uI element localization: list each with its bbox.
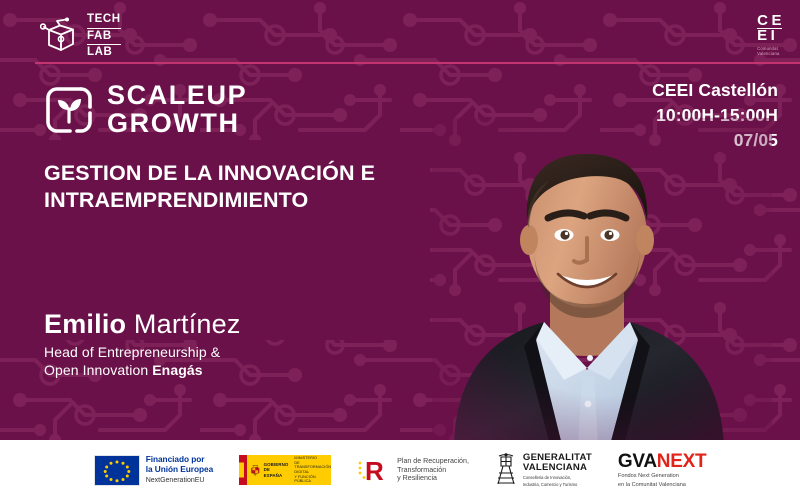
gvanext-gva: GVA xyxy=(618,451,657,472)
ceei-letter-i: I xyxy=(771,29,776,42)
techfablab-line-1: TECH xyxy=(87,12,121,29)
gvanext-subtitle-line-1: Fondos Next Generation xyxy=(618,473,706,480)
spain-ministry-line-2: DE TRANSFORMACIÓN DIGITAL xyxy=(294,461,331,475)
footer-logo-bar: Financiado por la Unión Europea NextGene… xyxy=(0,440,800,500)
scaleup-growth-wordmark: SCALEUP GROWTH xyxy=(107,82,247,138)
header-divider xyxy=(35,62,800,64)
spain-coat-of-arms-icon xyxy=(250,458,261,483)
european-union-flag-icon xyxy=(94,455,140,486)
speaker-company: Enagás xyxy=(152,362,202,378)
generalitat-subtitle-line-1: Conselleria de Innovación, xyxy=(523,475,592,480)
spain-gov-text: GOBIERNO DE ESPAÑA xyxy=(264,462,289,478)
generalitat-text: GENERALITAT VALENCIANA Conselleria de In… xyxy=(523,453,592,488)
prtr-line-2: Transformación xyxy=(397,466,469,475)
prtr-line-1: Plan de Recuperación, xyxy=(397,457,469,466)
scaleup-line-1: SCALEUP xyxy=(107,82,247,110)
speaker-role-line-1: Head of Entrepreneurship & xyxy=(44,344,241,362)
ceei-letter-c: C xyxy=(757,14,768,27)
ceei-letter-e2: E xyxy=(757,29,768,42)
scaleup-line-2: GROWTH xyxy=(107,110,247,138)
speaker-last-name: Martínez xyxy=(126,309,240,339)
event-title: GESTION DE LA INNOVACIÓN E INTRAEMPRENDI… xyxy=(44,160,424,214)
generalitat-valenciana-emblem-icon xyxy=(495,453,517,487)
spain-flag-block: GOBIERNO DE ESPAÑA MINISTERIO DE TRANSFO… xyxy=(239,455,331,485)
eu-subtitle: NextGenerationEU xyxy=(146,476,213,485)
event-title-line-1: GESTION DE LA INNOVACIÓN E xyxy=(44,160,424,187)
event-title-line-2: INTRAEMPRENDIMIENTO xyxy=(44,187,424,214)
spain-gov-line-2: DE ESPAÑA xyxy=(264,467,289,477)
spain-ministry-text: MINISTERIO DE TRANSFORMACIÓN DIGITAL Y F… xyxy=(294,456,331,484)
speaker-portrait-image xyxy=(432,118,772,445)
prtr-line-3: y Resiliencia xyxy=(397,474,469,483)
open-box-circuit-icon xyxy=(40,17,80,55)
spain-stripe-inner xyxy=(244,455,247,485)
techfablab-line-3: LAB xyxy=(87,45,121,61)
eu-funding-text: Financiado por la Unión Europea NextGene… xyxy=(146,455,213,485)
ceei-letter-e1: E xyxy=(771,14,782,27)
techfablab-line-2: FAB xyxy=(87,29,121,46)
scaleup-growth-logo: SCALEUP GROWTH xyxy=(44,82,247,138)
gvanext-logo: GVANEXT Fondos Next Generation en la Com… xyxy=(618,452,706,489)
ceei-subtitle-line-2: Valenciana xyxy=(757,51,779,56)
ceei-wordmark: C E E I xyxy=(757,14,782,43)
event-location: CEEI Castellón xyxy=(652,78,778,103)
speaker-role-line-2: Open Innovation Enagás xyxy=(44,362,241,380)
recovery-plan-text: Plan de Recuperación, Transformación y R… xyxy=(397,457,469,483)
eu-funding-logo: Financiado por la Unión Europea NextGene… xyxy=(94,455,213,486)
speaker-name: Emilio Martínez xyxy=(44,308,241,340)
eu-text-line-2: la Unión Europea xyxy=(146,465,213,475)
generalitat-line-2: VALENCIANA xyxy=(523,463,592,473)
eu-stars xyxy=(95,456,139,485)
generalitat-subtitle-line-2: Industria, Comercio y Turismo xyxy=(523,482,592,487)
ceei-row-bottom: E I xyxy=(757,29,782,43)
prtr-letter-r: R xyxy=(365,456,384,485)
sprout-leaf-icon xyxy=(44,85,94,135)
prtr-mark-icon: R xyxy=(357,455,391,485)
recovery-plan-logo: R Plan de Recuperación, Transformación y… xyxy=(357,455,469,485)
speaker-info: Emilio Martínez Head of Entrepreneurship… xyxy=(44,308,241,380)
speaker-role: Head of Entrepreneurship & Open Innovati… xyxy=(44,344,241,379)
techfablab-wordmark: TECH FAB LAB xyxy=(87,12,121,61)
ceei-logo: C E E I Comunitat Valenciana xyxy=(757,14,782,56)
ceei-subtitle: Comunitat Valenciana xyxy=(757,46,779,56)
speaker-role-prefix: Open Innovation xyxy=(44,362,152,378)
speaker-portrait xyxy=(432,118,772,445)
spain-ministry-line-3: Y FUNCIÓN PÚBLICA xyxy=(294,475,331,484)
generalitat-valenciana-logo: GENERALITAT VALENCIANA Conselleria de In… xyxy=(495,453,592,488)
techfablab-logo: TECH FAB LAB xyxy=(40,12,121,61)
speaker-first-name: Emilio xyxy=(44,309,126,339)
event-banner: TECH FAB LAB C E E I Comunitat Valencian… xyxy=(0,0,800,500)
gvanext-next: NEXT xyxy=(657,451,706,472)
gvanext-subtitle-line-2: en la Comunitat Valenciana xyxy=(618,482,706,489)
gvanext-wordmark: GVANEXT xyxy=(618,452,706,471)
spain-government-logo: GOBIERNO DE ESPAÑA MINISTERIO DE TRANSFO… xyxy=(239,455,331,485)
